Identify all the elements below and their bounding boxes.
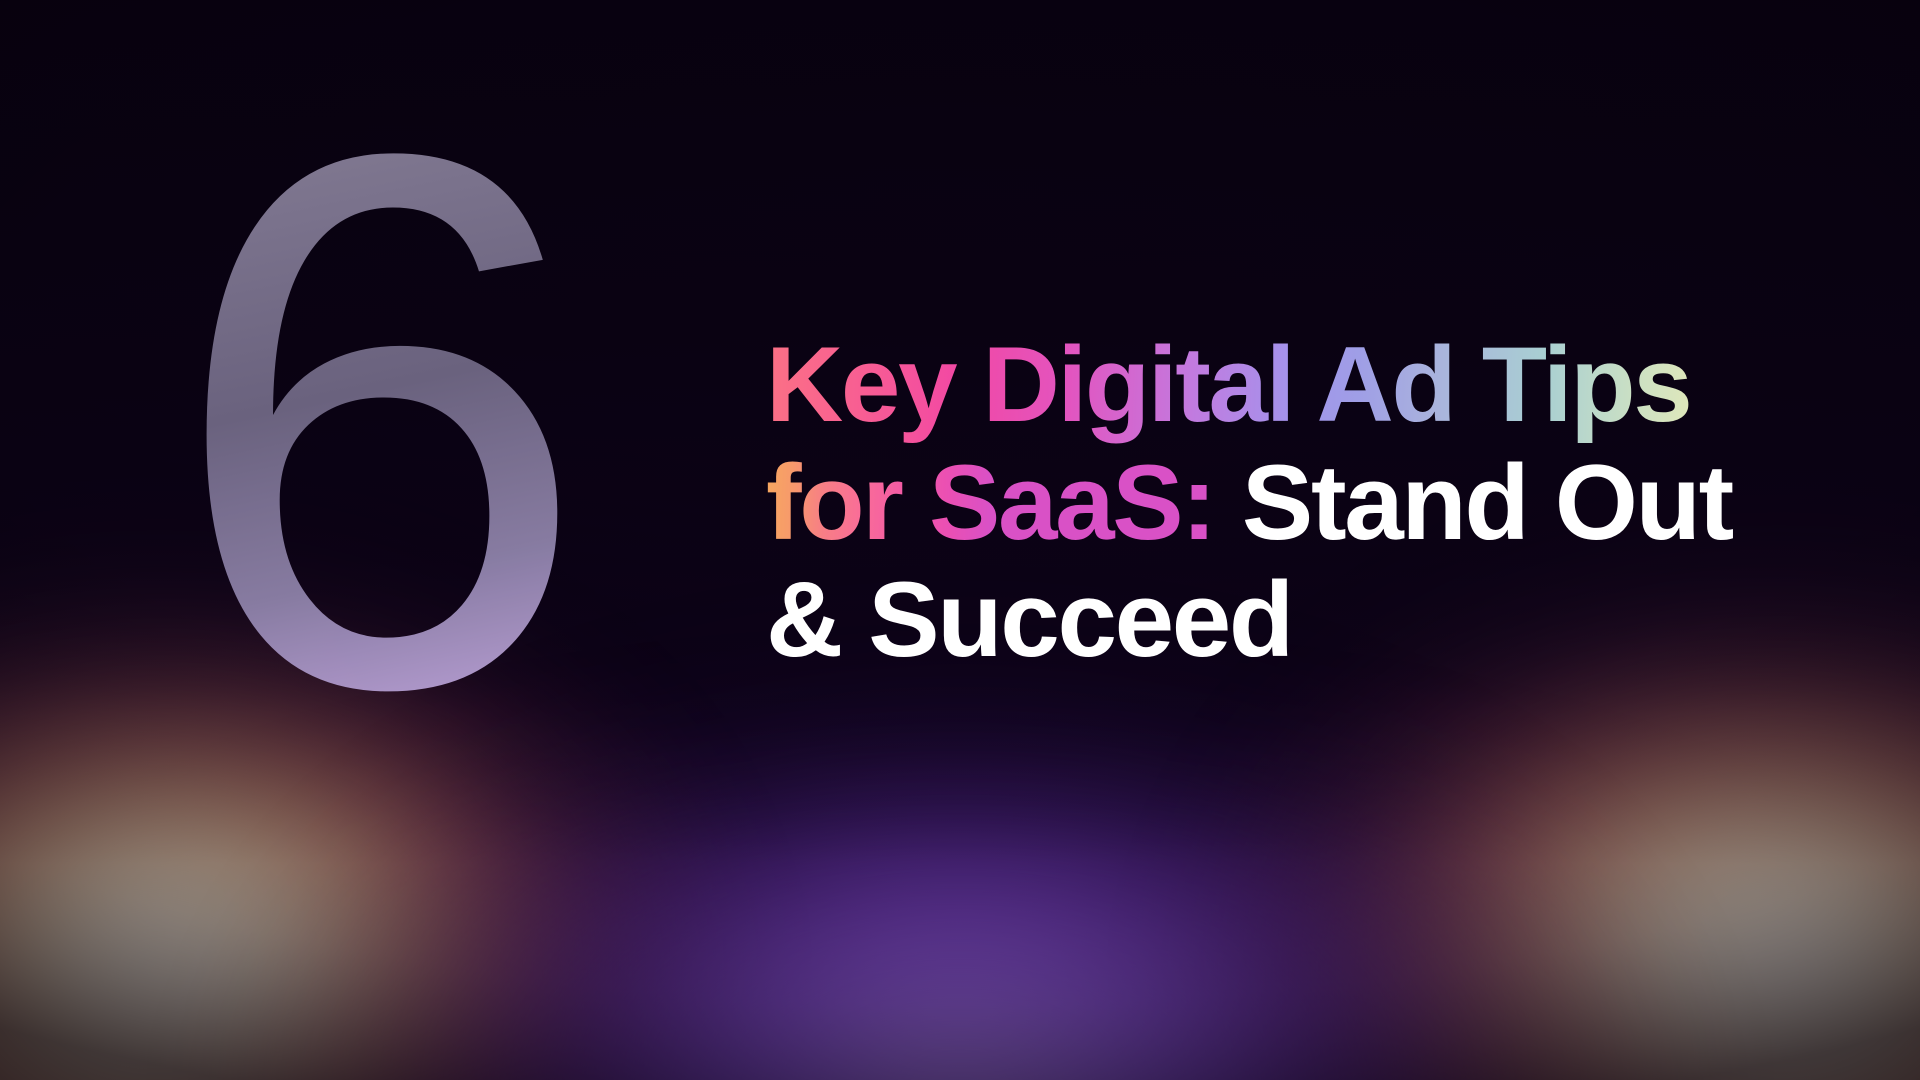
page-title: Key Digital Ad Tips for SaaS: Stand Out … <box>766 326 1806 679</box>
headline-line-2-gradient-text: for SaaS: <box>766 442 1215 562</box>
headline-line-2-white-text: Stand Out <box>1215 442 1732 562</box>
poster-canvas: 6 Key Digital Ad Tips for SaaS: Stand Ou… <box>0 0 1920 1080</box>
decorative-numeral-six: 6 <box>168 72 575 771</box>
headline-line-3-white-text: & Succeed <box>766 559 1292 679</box>
headline-line-1: Key Digital Ad Tips <box>766 326 1806 444</box>
headline-line-1-gradient-text: Key Digital Ad Tips <box>766 324 1690 444</box>
headline-line-2: for SaaS: Stand Out <box>766 444 1806 562</box>
headline-line-3: & Succeed <box>766 561 1806 679</box>
